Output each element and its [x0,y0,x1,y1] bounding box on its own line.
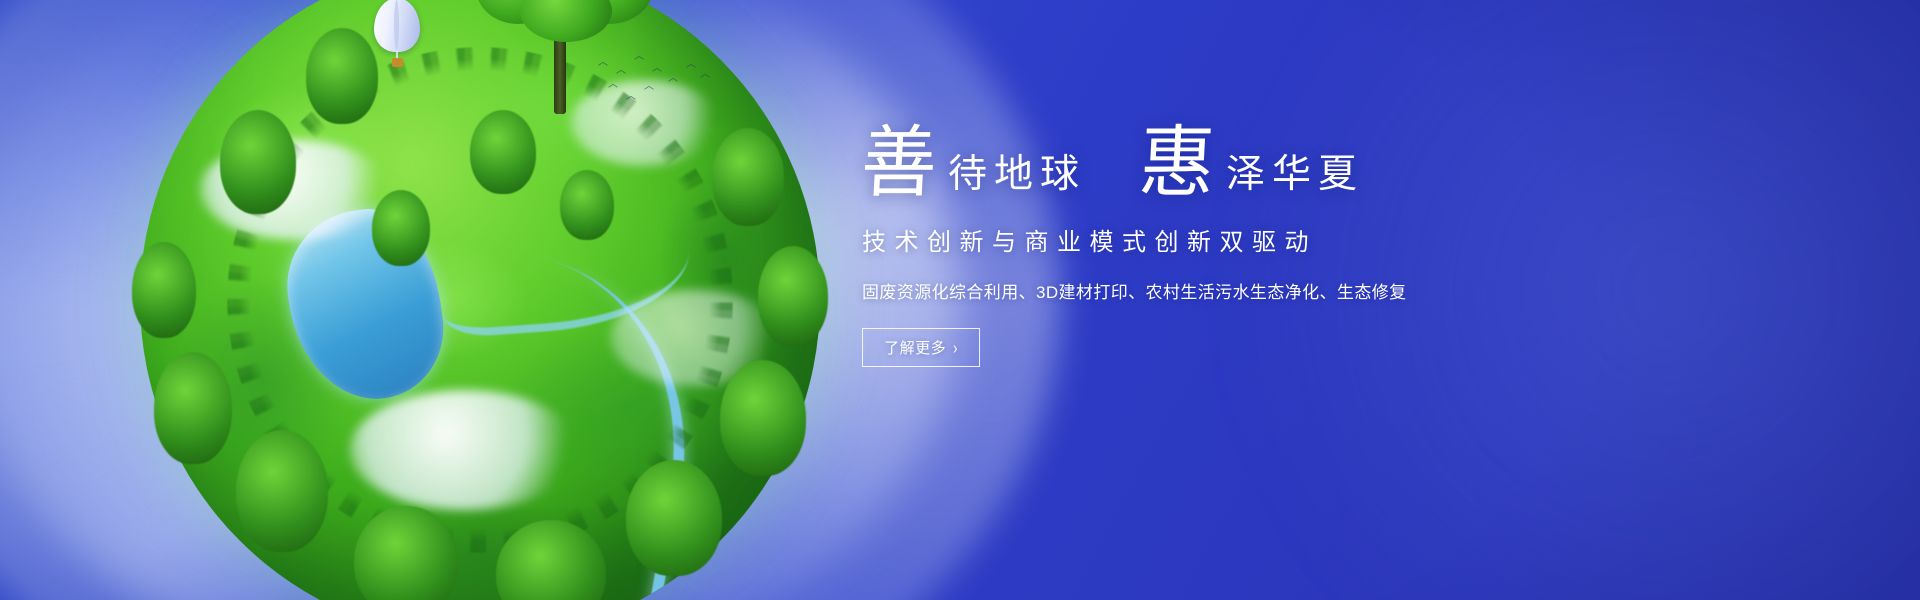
headline-brush-char-2: 惠 [1137,124,1219,202]
rim-tree [220,110,296,214]
balloon-stripe [394,0,399,50]
tree-canopy [520,0,612,42]
rim-tree [470,110,536,194]
rim-tree [712,128,784,226]
bird-icon: ︿ [598,58,608,68]
balloon-basket [392,58,403,67]
bird-icon: ︿ [668,74,678,84]
rim-tree [154,352,232,464]
bird-icon: ︿ [634,52,644,62]
bird-icon: ︿ [608,80,618,90]
bird-icon: ︿ [616,66,626,76]
hero-subtitle: 技术创新与商业模式创新双驱动 [862,222,1562,257]
headline-plain-1: 待地球 [938,155,1086,200]
bird-icon: ︿ [652,64,662,74]
rim-tree [720,360,806,476]
learn-more-button[interactable]: 了解更多 › [862,328,980,367]
learn-more-label: 了解更多 [884,337,946,358]
rim-tree [306,28,378,124]
hero-content: 善 待地球 惠 泽华夏 技术创新与商业模式创新双驱动 固废资源化综合利用、3D建… [862,126,1562,367]
headline-plain-2: 泽华夏 [1216,155,1364,200]
rim-tree [132,242,196,338]
rim-tree [758,246,828,346]
chevron-right-icon: › [953,337,958,357]
headline-brush-char-1: 善 [859,124,941,202]
bird-icon: ︿ [686,60,696,70]
tiny-planet-earth [140,0,820,600]
bird-icon: ︿ [644,82,654,92]
rim-tree [236,430,328,552]
hero-banner: ︿ ︿ ︿ ︿ ︿ ︿ ︿ ︿ ︿ ︿ 善 待地球 惠 泽华夏 技术创新与商业模… [0,0,1920,600]
hero-headline: 善 待地球 惠 泽华夏 [862,126,1562,200]
bird-icon: ︿ [700,70,710,80]
hot-air-balloon-icon [374,0,420,72]
hero-description: 固废资源化综合利用、3D建材打印、农村生活污水生态净化、生态修复 [862,278,1562,303]
bird-icon: ︿ [626,92,636,102]
rim-tree [372,190,430,266]
rim-tree [626,460,722,576]
rim-tree [560,170,614,240]
